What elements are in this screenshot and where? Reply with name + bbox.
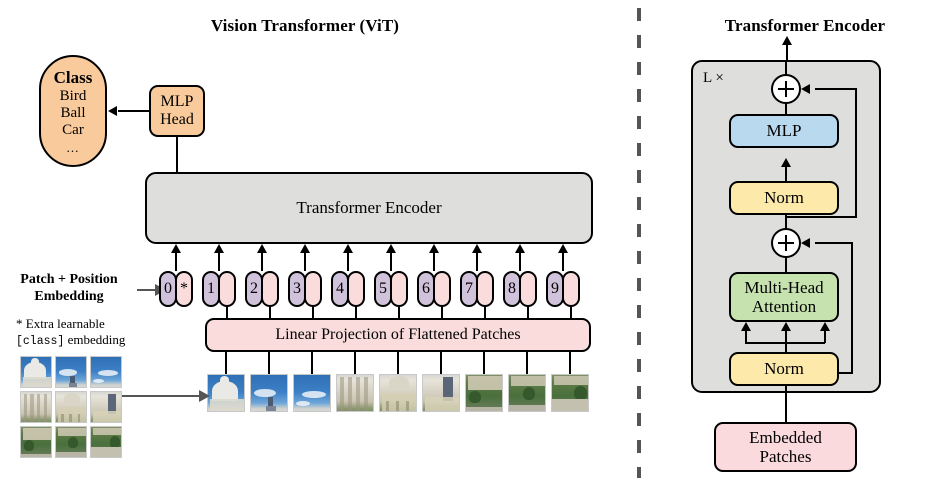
token-arrowhead-4 bbox=[343, 244, 353, 253]
patch-embedding-3 bbox=[304, 271, 322, 307]
flattened-patch-1 bbox=[207, 374, 245, 412]
patch-art bbox=[21, 357, 51, 387]
patch-art bbox=[337, 375, 373, 411]
norm-bottom-label: Norm bbox=[764, 359, 804, 378]
class-item-ball: Ball bbox=[61, 105, 86, 122]
multi-head-attention-block: Multi-Head Attention bbox=[729, 272, 839, 322]
skip-middle-vertical bbox=[851, 242, 853, 374]
qkv-line-q bbox=[745, 330, 747, 343]
class-item-bird: Bird bbox=[60, 88, 87, 105]
flattened-patch-6 bbox=[422, 374, 460, 412]
extra-learnable-note: * Extra learnable [class] embedding bbox=[16, 316, 156, 350]
patch-embedding-6 bbox=[433, 271, 451, 307]
skip-middle-horizontal bbox=[815, 242, 853, 244]
qkv-arrowhead-k bbox=[781, 322, 791, 331]
patch-art bbox=[91, 392, 121, 422]
projection-up-line-7 bbox=[484, 307, 486, 320]
mlp-block-label: MLP bbox=[767, 121, 802, 140]
loop-count-label: L × bbox=[703, 70, 724, 87]
token-arrow-line-1 bbox=[218, 252, 220, 271]
patch-art bbox=[208, 375, 244, 411]
mlp-to-class-line bbox=[118, 110, 150, 112]
patch-art bbox=[56, 427, 86, 457]
skip-top-tap bbox=[786, 216, 857, 218]
patch-art bbox=[21, 392, 51, 422]
patch-art bbox=[466, 375, 502, 411]
class-output-capsule: Class Bird Ball Car ... bbox=[39, 55, 107, 167]
patch-up-line-2 bbox=[268, 351, 270, 375]
projection-up-line-8 bbox=[527, 307, 529, 320]
residual-add-top bbox=[771, 74, 801, 104]
flattened-patch-2 bbox=[250, 374, 288, 412]
left-panel-title: Vision Transformer (ViT) bbox=[170, 16, 440, 36]
patch-embedding-2 bbox=[261, 271, 279, 307]
patch-art bbox=[91, 357, 121, 387]
embedded-to-encoder-line bbox=[785, 386, 787, 423]
token-5: 5 bbox=[374, 271, 408, 307]
token-arrow-line-4 bbox=[347, 252, 349, 271]
skip-top-arrowhead bbox=[801, 84, 810, 94]
flattened-patch-3 bbox=[293, 374, 331, 412]
embedded-patches-line1: Embedded bbox=[749, 428, 822, 447]
vit-figure: Vision Transformer (ViT) Class Bird Ball… bbox=[0, 0, 930, 485]
token-7: 7 bbox=[460, 271, 494, 307]
source-patch-5 bbox=[55, 391, 87, 423]
token-arrowhead-9 bbox=[558, 244, 568, 253]
patch-embedding-5 bbox=[390, 271, 408, 307]
token-2: 2 bbox=[245, 271, 279, 307]
flattened-patch-7 bbox=[465, 374, 503, 412]
source-patch-2 bbox=[55, 356, 87, 388]
projection-up-line-5 bbox=[398, 307, 400, 320]
extra-note-tail: embedding bbox=[64, 332, 125, 347]
patch-up-line-6 bbox=[440, 351, 442, 375]
token-4: 4 bbox=[331, 271, 365, 307]
flattened-patch-9 bbox=[551, 374, 589, 412]
mlp-head-line2: Head bbox=[160, 111, 194, 129]
patch-art bbox=[91, 427, 121, 457]
attention-to-add-line bbox=[785, 256, 787, 274]
projection-up-line-1 bbox=[226, 307, 228, 320]
patch-position-line2: Embedding bbox=[8, 289, 130, 306]
token-arrowhead-3 bbox=[300, 244, 310, 253]
embedded-patches-block: Embedded Patches bbox=[714, 422, 857, 472]
extra-note-line1: * Extra learnable bbox=[16, 316, 156, 332]
image-to-patches-arrowhead bbox=[199, 390, 210, 402]
source-patch-8 bbox=[55, 426, 87, 458]
attention-line2: Attention bbox=[752, 297, 816, 316]
token-arrow-line-9 bbox=[562, 252, 564, 271]
source-patch-6 bbox=[90, 391, 122, 423]
encoder-output-arrowhead bbox=[782, 36, 792, 45]
source-patch-9 bbox=[90, 426, 122, 458]
transformer-encoder-label: Transformer Encoder bbox=[296, 198, 441, 217]
attention-line1: Multi-Head bbox=[744, 278, 823, 297]
extra-note-line2: [class] embedding bbox=[16, 332, 156, 349]
patch-position-embedding-label: Patch + Position Embedding bbox=[8, 272, 130, 305]
token-arrow-line-5 bbox=[390, 252, 392, 271]
add-middle-to-norm-line bbox=[785, 215, 787, 230]
projection-up-line-4 bbox=[355, 307, 357, 320]
norm-top-label: Norm bbox=[764, 188, 804, 207]
patch-up-line-5 bbox=[397, 351, 399, 375]
panel-divider bbox=[637, 8, 641, 478]
patch-embedding-9 bbox=[562, 271, 580, 307]
patch-up-line-1 bbox=[225, 351, 227, 375]
token-8: 8 bbox=[503, 271, 537, 307]
class-item-car: Car bbox=[62, 122, 84, 139]
patch-art bbox=[251, 375, 287, 411]
token-arrow-line-0 bbox=[175, 252, 177, 271]
norm-block-top: Norm bbox=[729, 181, 839, 215]
projection-up-line-9 bbox=[570, 307, 572, 320]
token-arrowhead-6 bbox=[429, 244, 439, 253]
patch-art bbox=[509, 375, 545, 411]
mlp-to-class-arrowhead bbox=[108, 106, 117, 116]
token-arrowhead-0 bbox=[171, 244, 181, 253]
token-arrow-line-3 bbox=[304, 252, 306, 271]
patch-art bbox=[294, 375, 330, 411]
residual-add-middle bbox=[771, 228, 801, 258]
embedded-patches-line2: Patches bbox=[760, 447, 812, 466]
patch-art bbox=[552, 375, 588, 411]
token-arrow-line-6 bbox=[433, 252, 435, 271]
patch-position-arrow-line bbox=[137, 289, 156, 291]
class-heading: Class bbox=[54, 68, 93, 87]
norm-top-to-mlp-arrowhead bbox=[781, 158, 791, 167]
token-arrowhead-7 bbox=[472, 244, 482, 253]
patch-art bbox=[423, 375, 459, 411]
encoder-to-mlp-line bbox=[176, 137, 178, 173]
flattened-patch-5 bbox=[379, 374, 417, 412]
qkv-arrowhead-q bbox=[741, 322, 751, 331]
projection-up-line-3 bbox=[312, 307, 314, 320]
token-arrowhead-2 bbox=[257, 244, 267, 253]
patch-position-line1: Patch + Position bbox=[8, 272, 130, 289]
mlp-to-add-line bbox=[785, 102, 787, 116]
token-1: 1 bbox=[202, 271, 236, 307]
image-to-patches-line bbox=[122, 395, 200, 397]
class-ellipsis: ... bbox=[67, 141, 80, 154]
patch-art bbox=[56, 357, 86, 387]
token-arrow-line-2 bbox=[261, 252, 263, 271]
linear-projection-label: Linear Projection of Flattened Patches bbox=[275, 326, 520, 344]
skip-top-vertical bbox=[855, 88, 857, 218]
skip-top-horizontal bbox=[815, 88, 857, 90]
add-top-to-output-line bbox=[785, 62, 787, 76]
projection-up-line-2 bbox=[269, 307, 271, 320]
mlp-head-box: MLP Head bbox=[149, 85, 205, 137]
token-arrow-line-8 bbox=[519, 252, 521, 271]
qkv-line-v bbox=[824, 330, 826, 343]
token-9: 9 bbox=[546, 271, 580, 307]
patch-art bbox=[56, 392, 86, 422]
source-patch-1 bbox=[20, 356, 52, 388]
mlp-head-line1: MLP bbox=[161, 93, 194, 111]
patch-art bbox=[380, 375, 416, 411]
flattened-patch-8 bbox=[508, 374, 546, 412]
flattened-patch-4 bbox=[336, 374, 374, 412]
class-token-star: * bbox=[175, 271, 193, 307]
source-patch-4 bbox=[20, 391, 52, 423]
skip-middle-arrowhead bbox=[801, 238, 810, 248]
mlp-block: MLP bbox=[729, 114, 839, 148]
source-patch-7 bbox=[20, 426, 52, 458]
token-arrowhead-1 bbox=[214, 244, 224, 253]
token-arrowhead-5 bbox=[386, 244, 396, 253]
token-arrowhead-8 bbox=[515, 244, 525, 253]
patch-embedding-4 bbox=[347, 271, 365, 307]
token-6: 6 bbox=[417, 271, 451, 307]
transformer-encoder-box: Transformer Encoder bbox=[145, 172, 593, 244]
qkv-arrowhead-v bbox=[820, 322, 830, 331]
patch-up-line-8 bbox=[526, 351, 528, 375]
token-arrow-line-7 bbox=[476, 252, 478, 271]
token-0: 0* bbox=[159, 271, 193, 307]
right-panel-title: Transformer Encoder bbox=[690, 16, 920, 36]
patch-embedding-1 bbox=[218, 271, 236, 307]
class-token-mono: [class] bbox=[16, 335, 64, 348]
projection-up-line-6 bbox=[441, 307, 443, 320]
linear-projection-box: Linear Projection of Flattened Patches bbox=[205, 318, 591, 352]
patch-embedding-7 bbox=[476, 271, 494, 307]
source-patch-3 bbox=[90, 356, 122, 388]
token-3: 3 bbox=[288, 271, 322, 307]
patch-up-line-9 bbox=[569, 351, 571, 375]
patch-up-line-4 bbox=[354, 351, 356, 375]
patch-embedding-8 bbox=[519, 271, 537, 307]
norm-block-bottom: Norm bbox=[729, 352, 839, 386]
patch-art bbox=[21, 427, 51, 457]
patch-up-line-3 bbox=[311, 351, 313, 375]
patch-up-line-7 bbox=[483, 351, 485, 375]
